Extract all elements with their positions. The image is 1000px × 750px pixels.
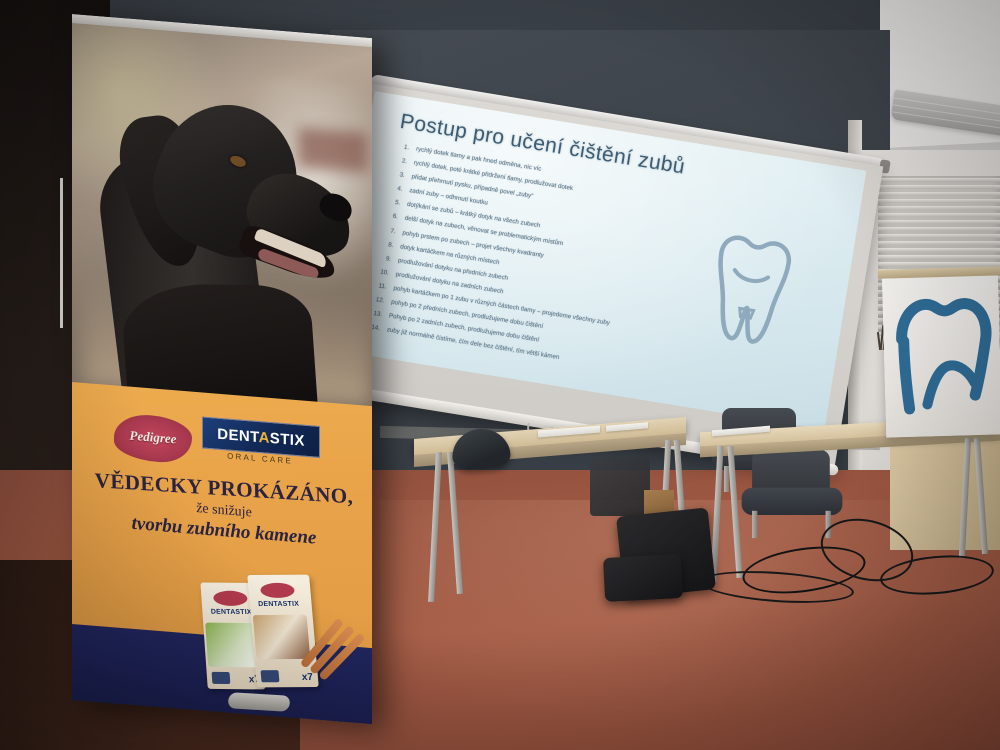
dentastix-wordmark: DENTASTIX [217, 425, 305, 449]
blind-slat [878, 185, 1000, 189]
bullet-number: 10. [375, 269, 389, 277]
blind-slat [878, 234, 1000, 238]
blind-slat [878, 241, 1000, 245]
bullet-number: 1. [396, 143, 410, 151]
bullet-number: 4. [389, 185, 403, 193]
blind-slat [878, 248, 1000, 252]
tooth-logo-icon [890, 283, 998, 416]
tooth-icon [689, 224, 810, 355]
equipment-bag[interactable] [603, 554, 683, 602]
bullet-number: 12. [371, 296, 385, 304]
blind-slat [878, 255, 1000, 259]
bullet-number: 5. [387, 199, 401, 207]
pedigree-rollup-banner: Pedigree DENTASTIX ORAL CARE VĚDECKY PRO… [72, 14, 372, 724]
conference-room-photo: Postup pro učení čištění zubů 1.rychlý d… [0, 0, 1000, 750]
bullet-number: 11. [373, 282, 387, 290]
bullet-number: 6. [384, 213, 398, 221]
blind-slat [878, 192, 1000, 196]
equipment-case [590, 458, 650, 516]
pedigree-logo: Pedigree [110, 412, 196, 465]
blind-slat [878, 227, 1000, 231]
slide-bullet-item: 12.pohyb po 2 předních zubech, prodlužuj… [371, 296, 698, 355]
product-pack: DENTASTIX x7 [247, 575, 319, 688]
blind-slat [878, 262, 1000, 266]
bullet-number: 9. [378, 255, 392, 263]
flipchart-banner [882, 266, 1000, 437]
blind-slat [878, 178, 1000, 182]
office-chair[interactable] [742, 450, 843, 538]
bullet-number: 8. [380, 241, 394, 249]
pack-count: x7 [301, 672, 313, 683]
blind-slat [878, 199, 1000, 203]
bullet-number: 3. [391, 171, 405, 179]
blind-cord[interactable] [60, 178, 63, 328]
bullet-number: 2. [393, 157, 407, 165]
pack-name: DENTASTIX [252, 601, 304, 608]
blind-slat [878, 206, 1000, 210]
banner-dog-photo [72, 23, 372, 407]
blind-slat [878, 220, 1000, 224]
bullet-number: 7. [382, 227, 396, 235]
blind-slat [878, 213, 1000, 217]
product-packs: DENTASTIX x7 DENTASTIX x7 [198, 564, 372, 708]
